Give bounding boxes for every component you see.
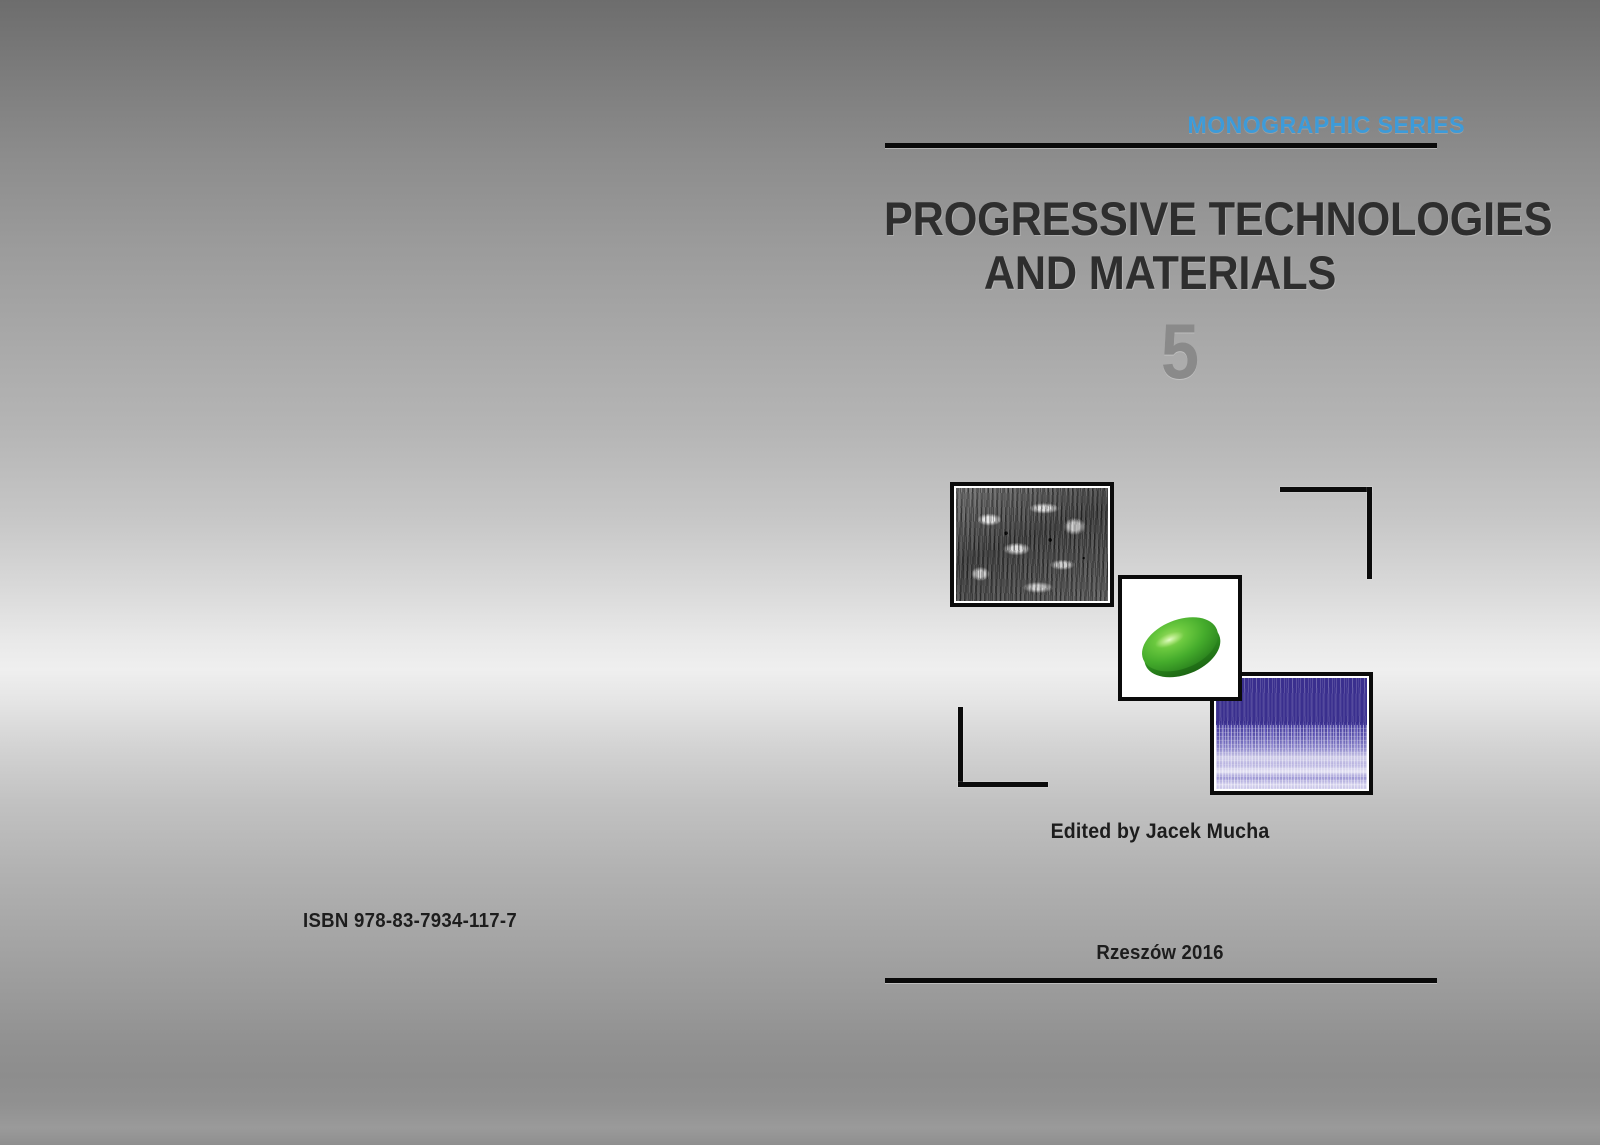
editor-text: Edited by Jacek Mucha (881, 820, 1439, 844)
page-title: PROGRESSIVE TECHNOLOGIES AND MATERIALS (884, 192, 1436, 299)
isbn-text: ISBN 978-83-7934-117-7 (243, 910, 578, 933)
micrograph-inner (956, 488, 1108, 601)
bracket-top-right-horizontal (1280, 487, 1372, 492)
ellipsoid-inner (1124, 581, 1236, 695)
place-year-text: Rzeszów 2016 (881, 942, 1439, 965)
micrograph-image (950, 482, 1114, 607)
rule-bottom (885, 978, 1437, 983)
ellipsoid-svg (1124, 581, 1236, 695)
bracket-top-right-vertical (1367, 487, 1372, 579)
bracket-bottom-left-icon (958, 707, 1048, 787)
series-label: MONOGRAPHIC SERIES (908, 112, 1465, 140)
bracket-bottom-left-horizontal (958, 782, 1048, 787)
book-cover: ISBN 978-83-7934-117-7 MONOGRAPHIC SERIE… (0, 0, 1600, 1145)
title-line-1: PROGRESSIVE TECHNOLOGIES (884, 192, 1436, 246)
micrograph-art (956, 488, 1108, 601)
rule-top (885, 143, 1437, 148)
bracket-bottom-left-vertical (958, 707, 963, 787)
title-line-2: AND MATERIALS (884, 246, 1436, 300)
ellipsoid-image (1118, 575, 1242, 701)
spectrogram-speckle (1216, 725, 1367, 789)
bracket-top-right-icon (1280, 487, 1372, 579)
volume-number: 5 (1074, 312, 1285, 390)
